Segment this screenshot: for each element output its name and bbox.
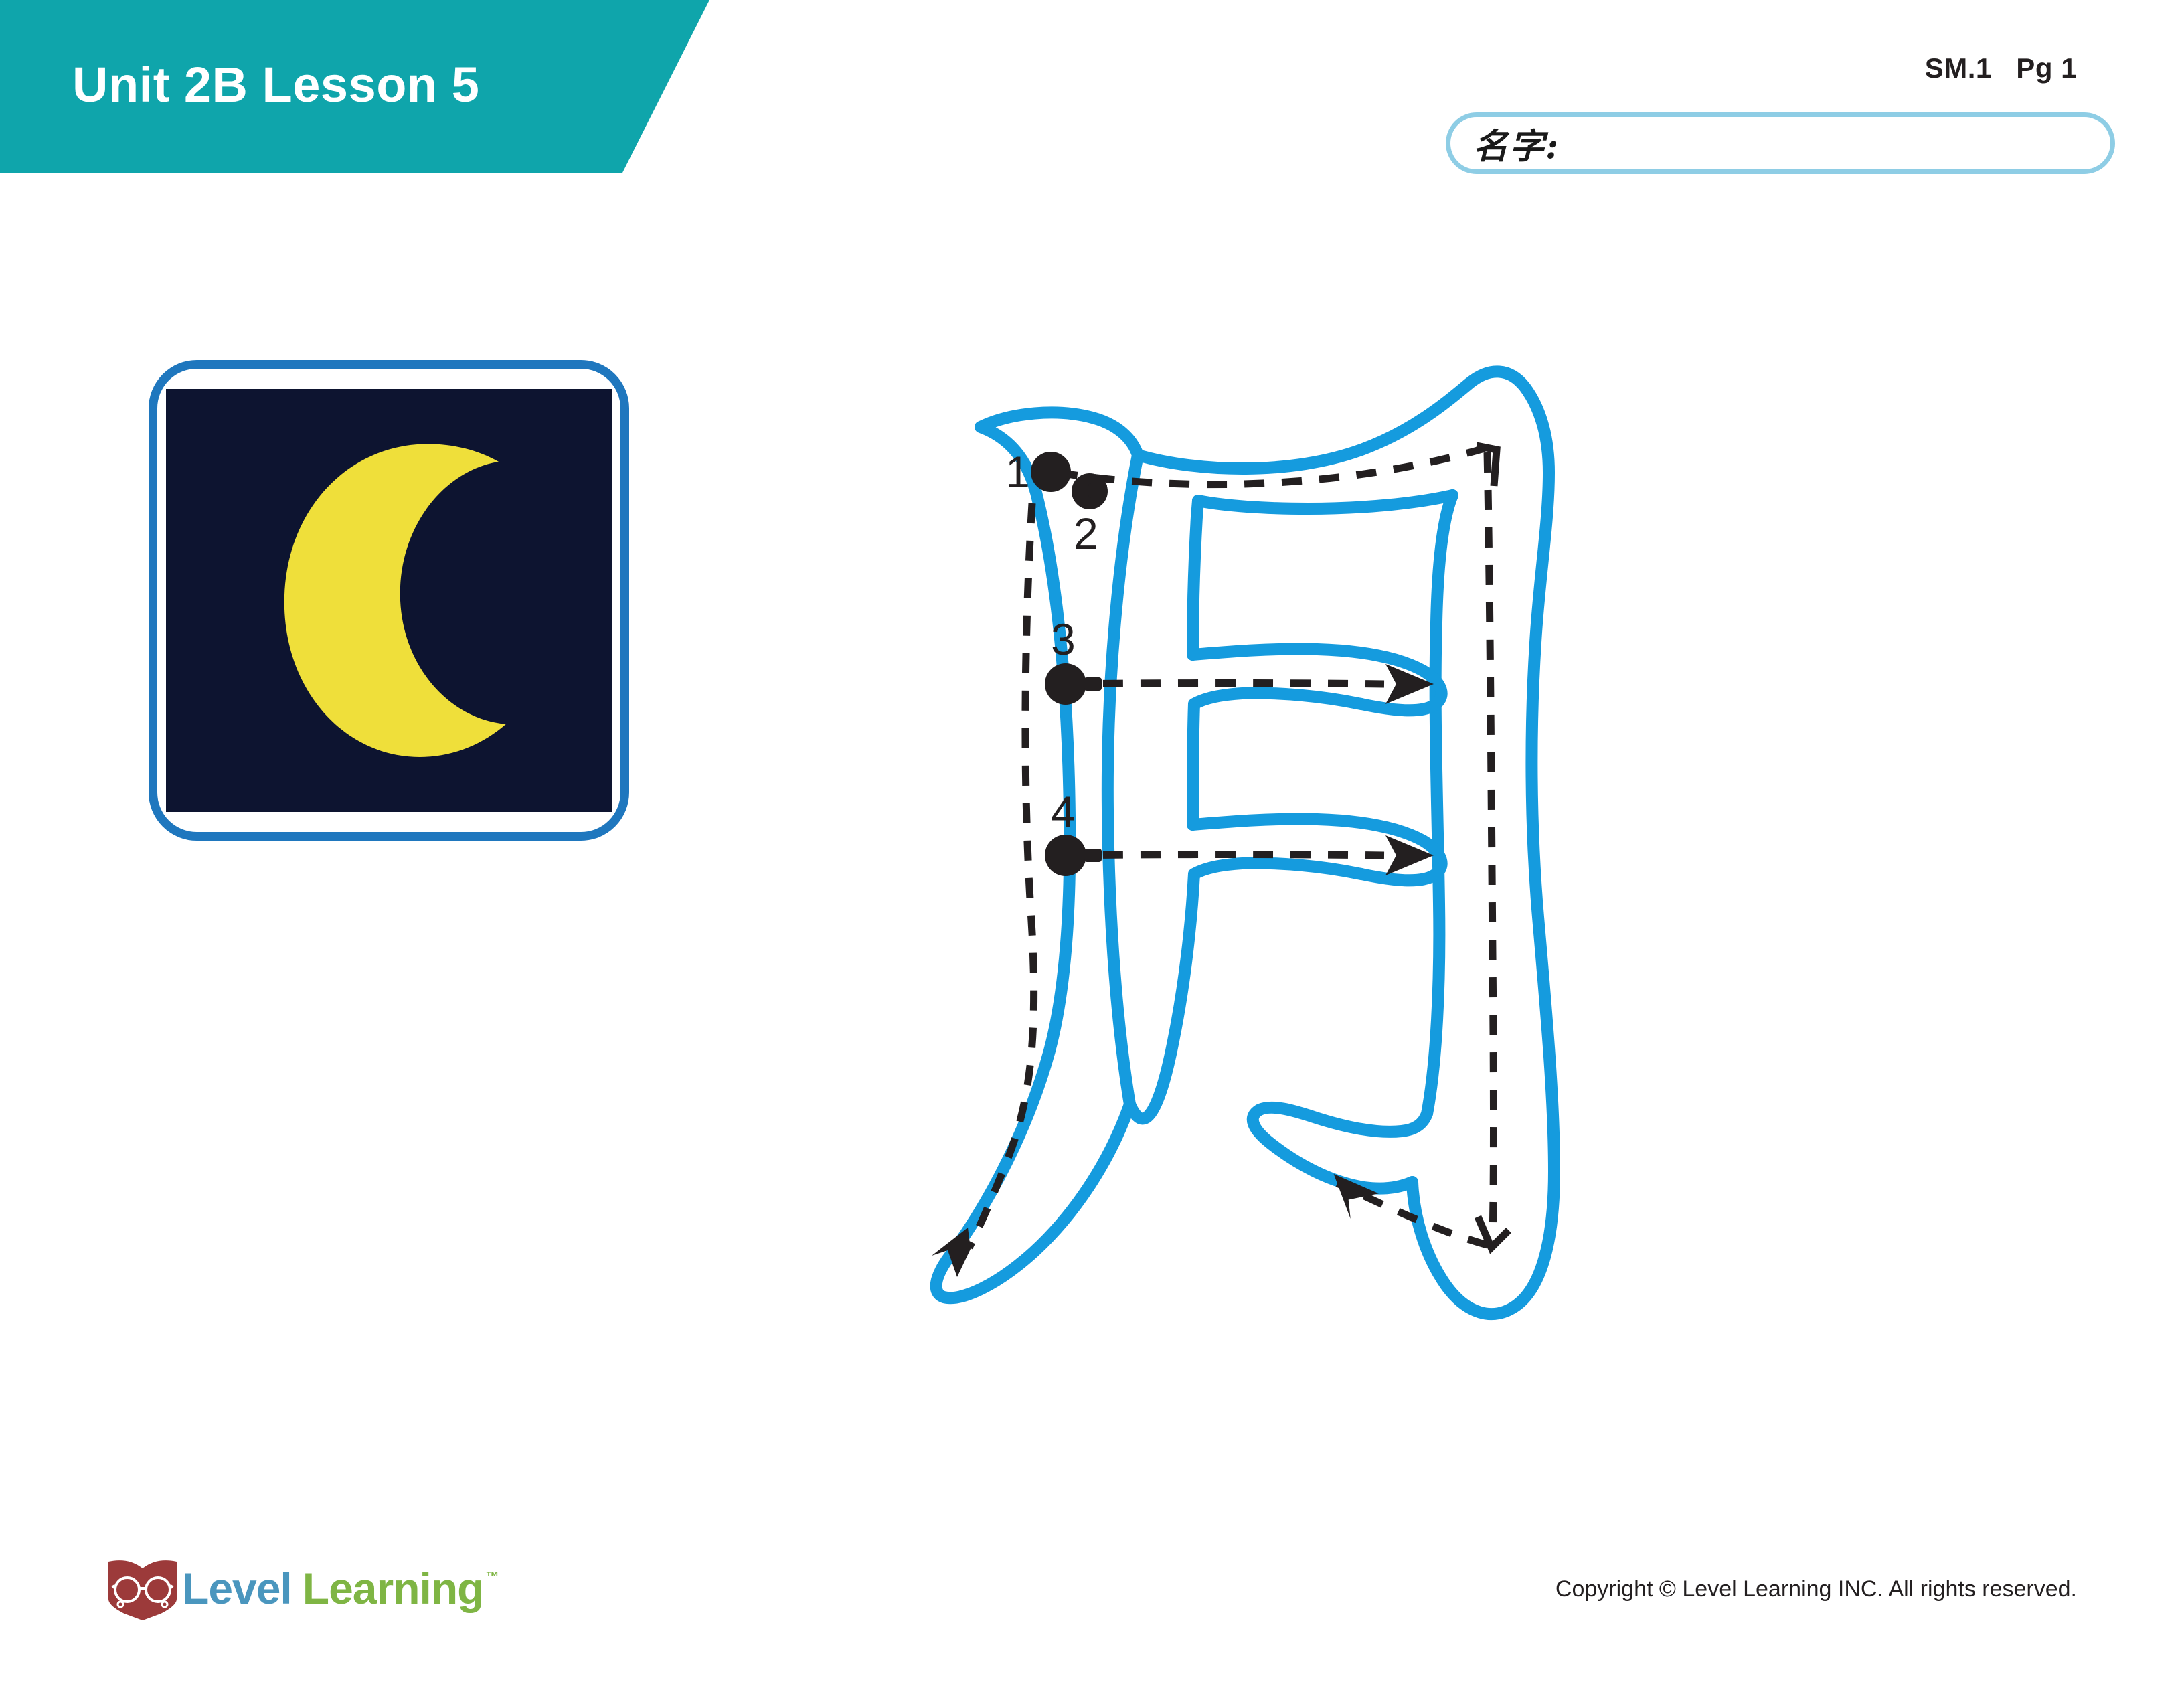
crescent-moon-icon bbox=[166, 389, 612, 812]
logo-word-learning: Learning bbox=[303, 1566, 484, 1610]
header-banner: Unit 2B Lesson 5 bbox=[0, 0, 709, 173]
vocabulary-image-card bbox=[149, 360, 629, 841]
night-sky-image bbox=[166, 389, 612, 812]
stroke-3-dot bbox=[1045, 663, 1086, 705]
page-title: Unit 2B Lesson 5 bbox=[72, 56, 479, 113]
page-code-label: SM.1 Pg 1 bbox=[1925, 52, 2077, 84]
stroke-4-dot bbox=[1045, 835, 1086, 876]
stroke-4-guide bbox=[1066, 855, 1384, 856]
trademark-symbol: ™ bbox=[485, 1570, 498, 1584]
stroke-1-dot bbox=[1031, 452, 1071, 492]
brand-logo: Level Learning ™ bbox=[107, 1551, 498, 1625]
character-stroke-order-diagram: 1 2 3 4 bbox=[917, 355, 1693, 1345]
name-input-box[interactable]: 名字: bbox=[1446, 112, 2115, 174]
stroke-number-3: 3 bbox=[1051, 614, 1076, 664]
stroke-number-1: 1 bbox=[1005, 447, 1030, 497]
copyright-notice: Copyright © Level Learning INC. All righ… bbox=[1556, 1576, 2077, 1602]
logo-wordmark: Level Learning ™ bbox=[182, 1566, 498, 1610]
stroke-3-guide bbox=[1066, 683, 1384, 685]
book-glasses-logo-icon bbox=[107, 1556, 178, 1620]
stroke-number-4: 4 bbox=[1051, 787, 1076, 837]
stroke-number-2: 2 bbox=[1074, 509, 1098, 558]
name-label: 名字: bbox=[1473, 118, 1560, 169]
logo-word-level: Level bbox=[182, 1566, 292, 1610]
